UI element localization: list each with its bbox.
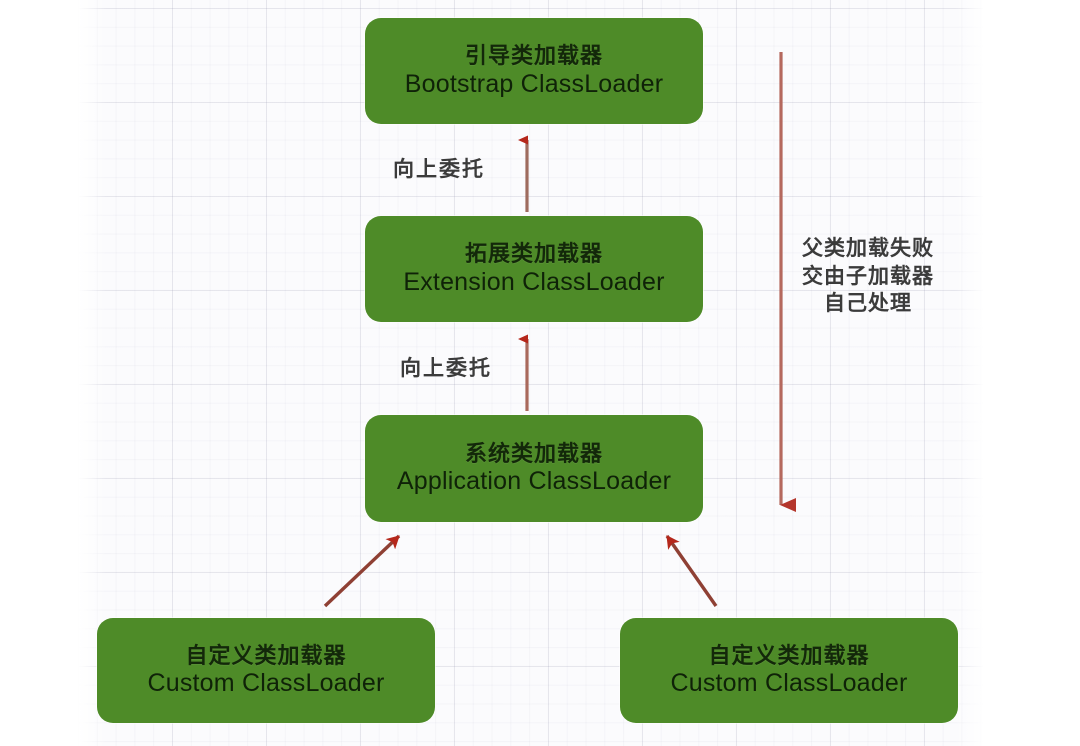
node-extension-classloader[interactable]: 拓展类加载器 Extension ClassLoader	[365, 216, 703, 322]
node-bootstrap-label-cn: 引导类加载器	[465, 44, 603, 69]
node-custom-right-label-en: Custom ClassLoader	[670, 669, 907, 697]
node-bootstrap-label-en: Bootstrap ClassLoader	[405, 70, 664, 98]
node-extension-label-cn: 拓展类加载器	[465, 242, 603, 267]
node-application-classloader[interactable]: 系统类加载器 Application ClassLoader	[365, 415, 703, 522]
node-custom-left-label-cn: 自定义类加载器	[185, 644, 346, 669]
node-bootstrap-classloader[interactable]: 引导类加载器 Bootstrap ClassLoader	[365, 18, 703, 124]
diagram-canvas: 引导类加载器 Bootstrap ClassLoader 拓展类加载器 Exte…	[0, 0, 1080, 746]
annotation-parent-load-failure: 父类加载失败 交由子加载器 自己处理	[788, 235, 948, 318]
node-application-label-en: Application ClassLoader	[397, 467, 671, 495]
node-custom-classloader-left[interactable]: 自定义类加载器 Custom ClassLoader	[97, 618, 435, 723]
annotation-line-1: 父类加载失败	[788, 235, 948, 263]
node-application-label-cn: 系统类加载器	[465, 442, 603, 467]
node-custom-classloader-right[interactable]: 自定义类加载器 Custom ClassLoader	[620, 618, 958, 723]
annotation-line-3: 自己处理	[788, 290, 948, 318]
edge-label-delegate-up-2: 向上委托	[400, 352, 492, 382]
node-extension-label-en: Extension ClassLoader	[403, 268, 664, 296]
edge-label-delegate-up-1: 向上委托	[393, 153, 485, 183]
annotation-line-2: 交由子加载器	[788, 263, 948, 291]
node-custom-right-label-cn: 自定义类加载器	[708, 644, 869, 669]
node-custom-left-label-en: Custom ClassLoader	[147, 669, 384, 697]
